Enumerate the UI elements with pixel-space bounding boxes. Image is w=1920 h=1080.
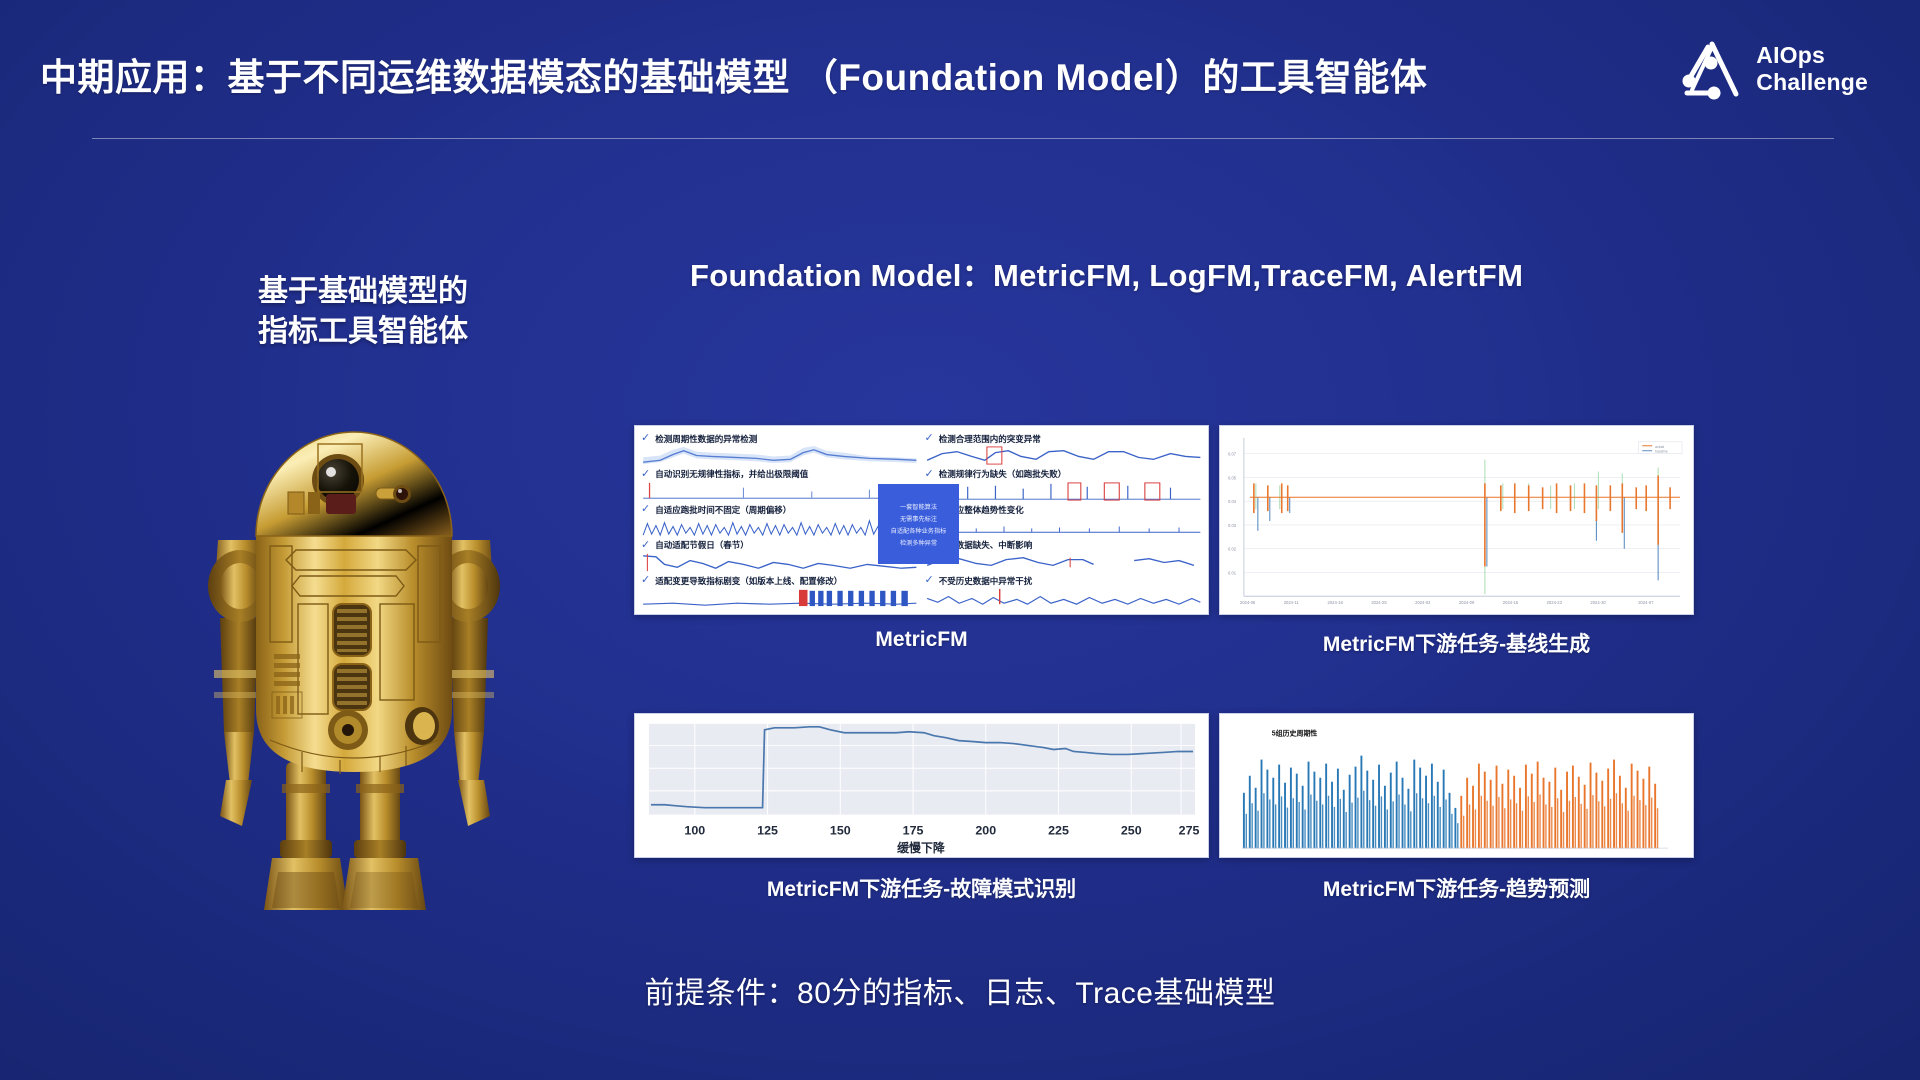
feature-label: 自适应跑批时间不固定（周期偏移）: [655, 504, 791, 516]
fault-chart-xlabel: 缓慢下降: [897, 841, 945, 855]
svg-text:2024-02: 2024-02: [1415, 600, 1431, 605]
left-heading: 基于基础模型的 指标工具智能体: [228, 272, 498, 352]
metricfm-feature-item: ✓自适应跑批时间不固定（周期偏移）: [641, 503, 919, 537]
mini-chart-holiday: [641, 552, 919, 573]
metricfm-left-column: ✓检测周期性数据的异常检测 ✓自动识别无规律性指标，并给出极限阈值 ✓自适应跑批…: [641, 432, 919, 608]
foundation-model-heading: Foundation Model：MetricFM, LogFM,TraceFM…: [690, 250, 1523, 295]
trend-chart-title: 5组历史周期性: [1272, 729, 1318, 738]
svg-text:0.04: 0.04: [1228, 499, 1237, 504]
check-icon: ✓: [925, 575, 934, 586]
caption-metricfm: MetricFM: [634, 628, 1209, 652]
feature-label: 适配变更导致指标剧变（如版本上线、配置修改）: [655, 575, 842, 587]
aiops-triangle-nodes-icon: [1678, 36, 1744, 102]
svg-text:0.03: 0.03: [1228, 523, 1237, 528]
svg-text:0.07: 0.07: [1228, 452, 1237, 457]
check-icon: ✓: [925, 433, 934, 444]
metricfm-feature-item: ✓检测规律行为缺失（如跑批失败）: [925, 468, 1203, 502]
summary-line: 一套智能算法: [900, 502, 937, 511]
check-icon: ✓: [641, 433, 650, 444]
check-icon: ✓: [641, 540, 650, 551]
metricfm-right-column: ✓检测合理范围内的突变异常 ✓检测规律行为缺失（如跑批失败）: [925, 432, 1203, 608]
caption-fault: MetricFM下游任务-故障模式识别: [634, 873, 1209, 903]
baseline-generation-chart-card: 0.070.050.04 0.030.020.01 2024-052024-11…: [1219, 425, 1694, 615]
svg-text:2024-18: 2024-18: [1328, 600, 1344, 605]
caption-trend: MetricFM下游任务-趋势预测: [1219, 873, 1694, 903]
summary-line: 无需事先标注: [900, 514, 937, 523]
logo-line-1: AIOps: [1756, 42, 1868, 69]
logo-text: AIOps Challenge: [1756, 42, 1868, 95]
mini-chart-inrange-spike: [925, 445, 1203, 466]
svg-text:2024-30: 2024-30: [1590, 600, 1606, 605]
metricfm-feature-item: ✓适配变更导致指标剧变（如版本上线、配置修改）: [641, 574, 919, 608]
feature-label: 检测周期性数据的异常检测: [655, 433, 757, 445]
fault-pattern-chart: 100125150 175200225 250275 缓慢下降: [635, 714, 1208, 857]
metricfm-feature-item: ✓检测周期性数据的异常检测: [641, 432, 919, 466]
baseline-chart: 0.070.050.04 0.030.020.01 2024-052024-11…: [1220, 426, 1693, 614]
mini-chart-change-shift: [641, 587, 919, 608]
metricfm-feature-item: ✓自适应整体趋势性变化: [925, 503, 1203, 537]
mini-chart-periodic: [641, 445, 919, 466]
svg-text:2024-07: 2024-07: [1638, 600, 1654, 605]
metricfm-feature-item: ✓检测合理范围内的突变异常: [925, 432, 1203, 466]
check-icon: ✓: [641, 469, 650, 480]
svg-text:2024-23: 2024-23: [1547, 600, 1563, 605]
summary-line: 自适配各种业务指标: [891, 526, 947, 535]
svg-text:baseline: baseline: [1655, 450, 1668, 454]
mini-chart-missing-behavior: [925, 481, 1203, 502]
fault-pattern-chart-card: 100125150 175200225 250275 缓慢下降: [634, 713, 1209, 858]
caption-baseline: MetricFM下游任务-基线生成: [1219, 628, 1694, 658]
chart-legend: actual baseline: [1638, 442, 1682, 454]
check-icon: ✓: [641, 504, 650, 515]
slide-header: 中期应用：基于不同运维数据模态的基础模型 （Foundation Model）的…: [0, 0, 1920, 150]
metricfm-summary-box: 一套智能算法 无需事先标注 自适配各种业务指标 检测多种异常: [878, 484, 959, 564]
check-icon: ✓: [925, 469, 934, 480]
svg-text:actual: actual: [1655, 445, 1664, 449]
metricfm-feature-item: ✓自动适配节假日（春节）: [641, 539, 919, 573]
svg-text:125: 125: [757, 823, 778, 837]
svg-text:275: 275: [1179, 823, 1200, 837]
trend-forecast-chart: 5组历史周期性: [1220, 714, 1693, 857]
mini-chart-data-gap: [925, 552, 1203, 573]
golden-droid-robot-illustration: [190, 380, 520, 920]
svg-text:2024-09: 2024-09: [1459, 600, 1475, 605]
svg-text:150: 150: [830, 823, 851, 837]
feature-label: 不受历史数据中异常干扰: [939, 575, 1033, 587]
footer-note: 前提条件：80分的指标、日志、Trace基础模型: [0, 968, 1920, 1012]
check-icon: ✓: [641, 575, 650, 586]
metricfm-feature-item: ✓自动识别无规律性指标，并给出极限阈值: [641, 468, 919, 502]
svg-text:175: 175: [903, 823, 924, 837]
svg-text:100: 100: [684, 823, 705, 837]
feature-label: 自动适配节假日（春节）: [655, 539, 749, 551]
metricfm-feature-item: ✓不受数据缺失、中断影响: [925, 539, 1203, 573]
svg-text:2024-16: 2024-16: [1503, 600, 1519, 605]
mini-chart-batch-shift: [641, 516, 919, 537]
svg-text:2024-25: 2024-25: [1371, 600, 1387, 605]
aiops-challenge-logo: AIOps Challenge: [1678, 36, 1868, 102]
left-heading-line-2: 指标工具智能体: [228, 312, 498, 352]
feature-label: 检测规律行为缺失（如跑批失败）: [939, 468, 1067, 480]
svg-text:0.01: 0.01: [1228, 570, 1237, 575]
logo-line-2: Challenge: [1756, 69, 1868, 96]
mini-chart-irregular: [641, 481, 919, 502]
svg-text:200: 200: [975, 823, 996, 837]
metricfm-overview-card: ✓检测周期性数据的异常检测 ✓自动识别无规律性指标，并给出极限阈值 ✓自适应跑批…: [634, 425, 1209, 615]
svg-text:250: 250: [1121, 823, 1142, 837]
page-title: 中期应用：基于不同运维数据模态的基础模型 （Foundation Model）的…: [40, 47, 1427, 101]
mini-chart-history-noise: [925, 587, 1203, 608]
left-heading-line-1: 基于基础模型的: [228, 272, 498, 312]
summary-line: 检测多种异常: [900, 538, 937, 547]
header-divider: [92, 138, 1834, 139]
svg-text:225: 225: [1048, 823, 1069, 837]
svg-text:0.02: 0.02: [1228, 547, 1237, 552]
trend-forecast-chart-card: 5组历史周期性: [1219, 713, 1694, 858]
mini-chart-trend-adapt: [925, 516, 1203, 537]
svg-text:2024-11: 2024-11: [1284, 600, 1300, 605]
svg-text:2024-05: 2024-05: [1240, 600, 1256, 605]
metricfm-feature-item: ✓不受历史数据中异常干扰: [925, 574, 1203, 608]
feature-label: 自动识别无规律性指标，并给出极限阈值: [655, 468, 808, 480]
feature-label: 检测合理范围内的突变异常: [939, 433, 1041, 445]
svg-text:0.05: 0.05: [1228, 475, 1237, 480]
